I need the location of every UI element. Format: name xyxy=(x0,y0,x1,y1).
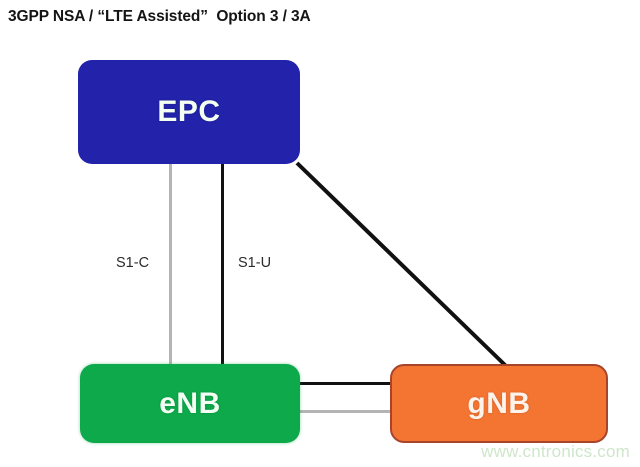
edge-enb-to-gnb-gray xyxy=(298,410,392,413)
node-gnb-label: gNB xyxy=(467,387,530,421)
watermark: www.cntronics.com xyxy=(481,442,630,462)
node-enb-label: eNB xyxy=(159,387,221,421)
node-epc[interactable]: EPC xyxy=(78,60,300,164)
edge-label-s1c: S1-C xyxy=(116,255,149,271)
diagram-canvas: 3GPP NSA / “LTE Assisted” Option 3 / 3A … xyxy=(0,0,640,467)
edge-s1c-line xyxy=(169,162,172,376)
diagram-title: 3GPP NSA / “LTE Assisted” Option 3 / 3A xyxy=(8,8,311,26)
node-enb[interactable]: eNB xyxy=(80,364,300,443)
edge-enb-to-gnb-black xyxy=(298,382,392,385)
edge-label-s1u: S1-U xyxy=(238,255,271,271)
node-gnb[interactable]: gNB xyxy=(390,364,608,443)
edge-s1u-line xyxy=(221,162,224,376)
node-epc-label: EPC xyxy=(157,95,220,129)
